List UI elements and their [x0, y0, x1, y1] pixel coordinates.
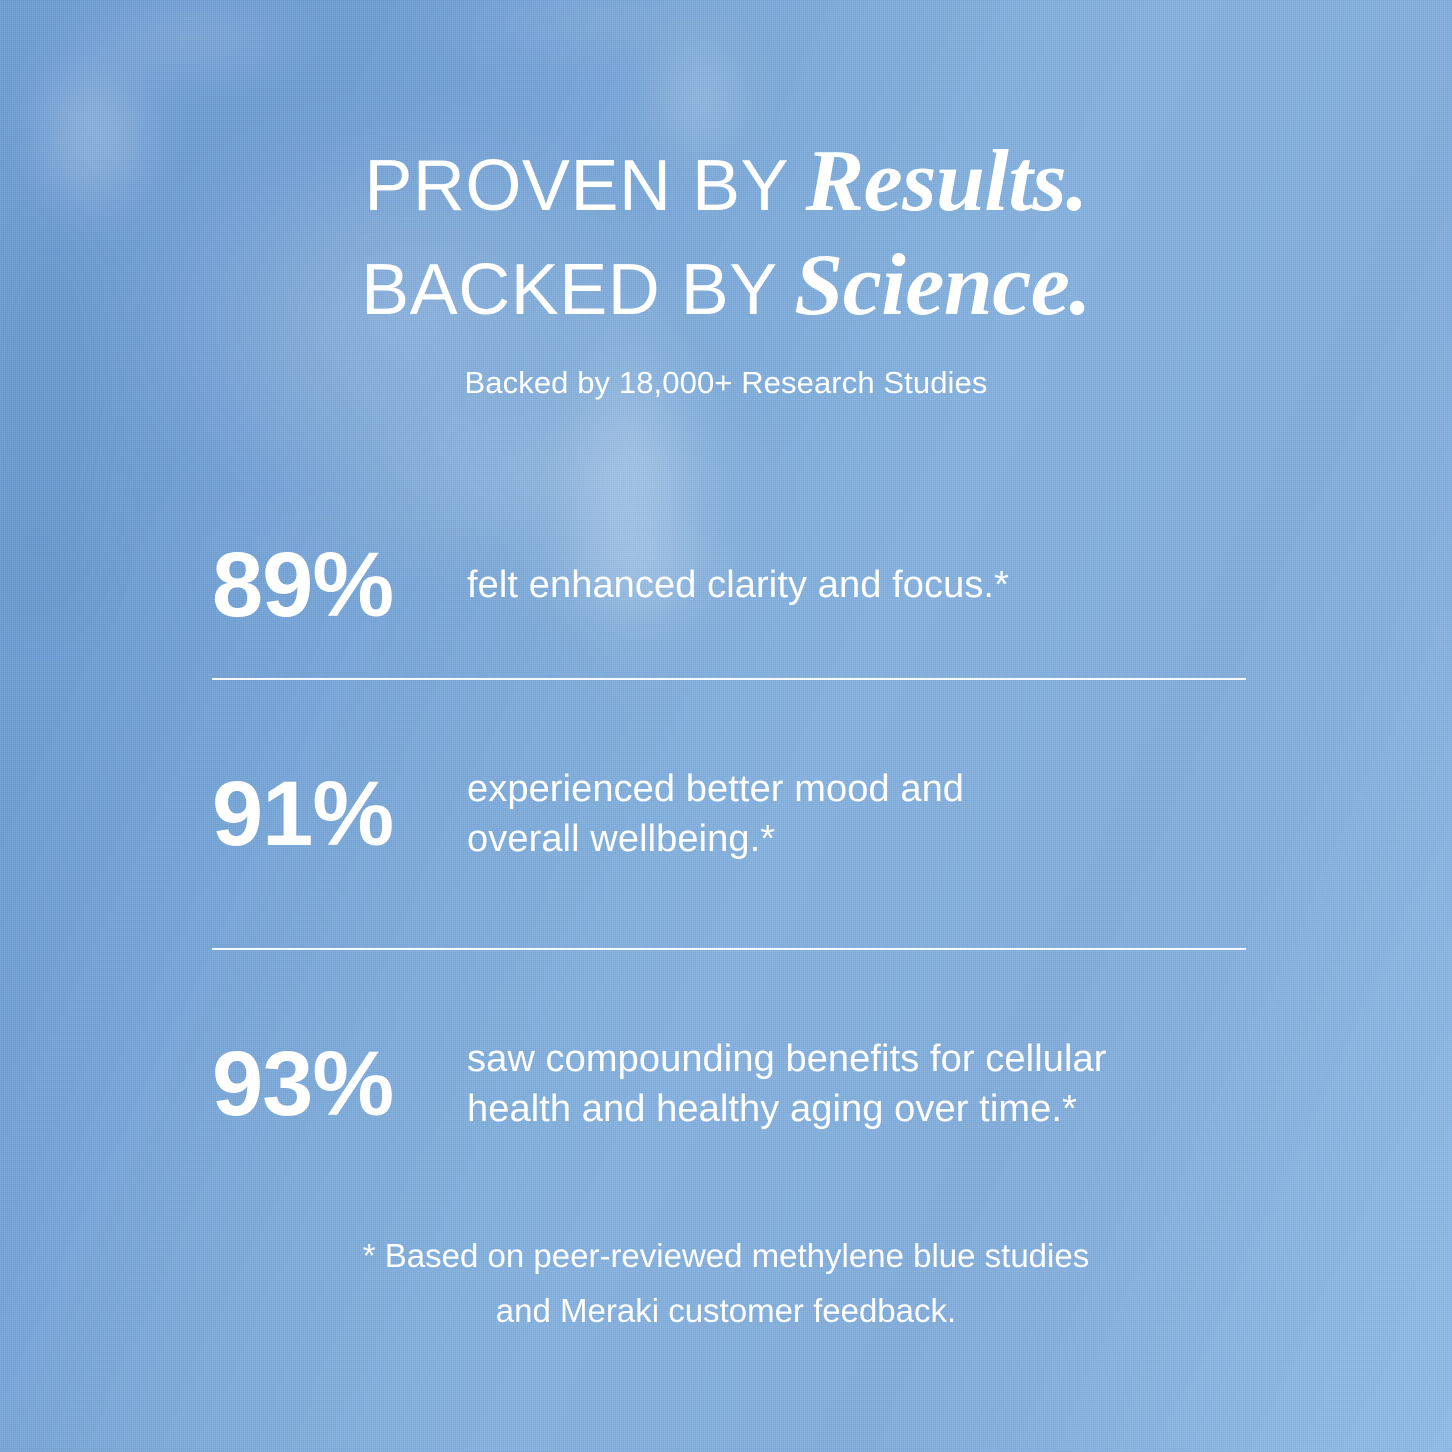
- promo-graphic: PROVEN BY Results. BACKED BY Science. Ba…: [0, 0, 1452, 1452]
- stat-item-cellular: 93% saw compounding benefits for cellula…: [212, 950, 1246, 1218]
- stat-label-clarity-line-1: felt enhanced clarity and focus.*: [467, 560, 1246, 610]
- stat-label-mood-line-1: experienced better mood and: [467, 764, 1246, 814]
- stat-label-clarity: felt enhanced clarity and focus.*: [467, 560, 1246, 610]
- stat-value-93: 93%: [212, 1038, 467, 1130]
- footnote-line-2: and Meraki customer feedback.: [0, 1283, 1452, 1338]
- headline-line-1-accent: Results.: [805, 133, 1087, 230]
- stat-item-mood: 91% experienced better mood and overall …: [212, 680, 1246, 948]
- subtitle: Backed by 18,000+ Research Studies: [0, 365, 1452, 401]
- headline-line-2: BACKED BY Science.: [0, 242, 1452, 330]
- footnote: * Based on peer-reviewed methylene blue …: [0, 1228, 1452, 1339]
- content-container: PROVEN BY Results. BACKED BY Science. Ba…: [0, 0, 1452, 1452]
- headline-line-2-plain: BACKED BY: [361, 250, 778, 330]
- stat-label-mood-line-2: overall wellbeing.*: [467, 814, 1246, 864]
- stat-item-clarity: 89% felt enhanced clarity and focus.*: [212, 492, 1246, 678]
- stat-value-89: 89%: [212, 539, 467, 631]
- footnote-line-1: * Based on peer-reviewed methylene blue …: [0, 1228, 1452, 1283]
- headline-line-2-accent: Science.: [794, 237, 1091, 334]
- stat-value-91: 91%: [212, 768, 467, 860]
- headline-line-1: PROVEN BY Results.: [0, 138, 1452, 226]
- headline: PROVEN BY Results. BACKED BY Science.: [0, 138, 1452, 346]
- headline-line-1-plain: PROVEN BY: [364, 146, 789, 226]
- stat-label-cellular-line-2: health and healthy aging over time.*: [467, 1084, 1246, 1134]
- stat-label-mood: experienced better mood and overall well…: [467, 764, 1246, 864]
- stats-list: 89% felt enhanced clarity and focus.* 91…: [212, 492, 1246, 1218]
- stat-label-cellular-line-1: saw compounding benefits for cellular: [467, 1034, 1246, 1084]
- stat-label-cellular: saw compounding benefits for cellular he…: [467, 1034, 1246, 1134]
